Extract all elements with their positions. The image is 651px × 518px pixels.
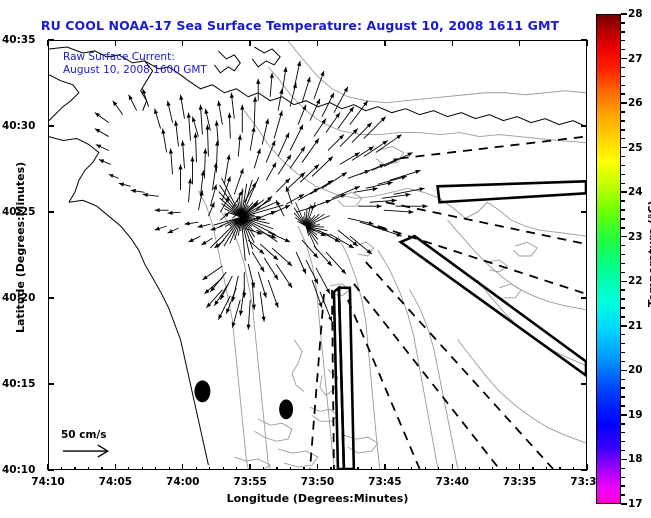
colorbar-minor-tick — [621, 22, 625, 23]
x-minor-tick — [209, 467, 210, 471]
colorbar-minor-tick — [621, 379, 625, 380]
figure-title: RU COOL NOAA-17 Sea Surface Temperature:… — [0, 18, 600, 33]
colorbar-minor-tick — [621, 165, 625, 166]
x-minor-tick — [559, 467, 560, 471]
colorbar-tick-label: 21 — [628, 320, 643, 332]
colorbar-tick-label: 17 — [628, 498, 643, 510]
x-minor-tick — [155, 467, 156, 471]
x-tick-mark — [317, 40, 318, 46]
x-minor-tick — [344, 467, 345, 471]
y-tick-mark — [581, 211, 587, 212]
colorbar-tick — [621, 370, 627, 371]
y-tick-label: 40:15 — [2, 378, 35, 390]
colorbar-tick — [621, 414, 627, 415]
colorbar-tick-label: 23 — [628, 231, 643, 243]
colorbar[interactable] — [596, 14, 621, 504]
x-tick-mark — [182, 464, 183, 470]
colorbar-minor-tick — [621, 405, 625, 406]
x-tick-mark — [182, 40, 183, 46]
x-minor-tick — [357, 467, 358, 471]
colorbar-tick — [621, 236, 627, 237]
colorbar-tick — [621, 281, 627, 282]
y-tick-mark — [581, 297, 587, 298]
y-tick-label: 40:35 — [2, 34, 35, 46]
x-minor-tick — [263, 467, 264, 471]
x-tick-mark — [384, 464, 385, 470]
x-tick-mark — [519, 40, 520, 46]
colorbar-tick-label: 22 — [628, 275, 643, 287]
x-tick-mark — [249, 464, 250, 470]
x-tick-mark — [384, 40, 385, 46]
colorbar-minor-tick — [621, 272, 625, 273]
x-minor-tick — [61, 467, 62, 471]
colorbar-minor-tick — [621, 76, 625, 77]
x-minor-tick — [276, 467, 277, 471]
colorbar-tick-label: 18 — [628, 453, 643, 465]
y-tick-label: 40:10 — [2, 464, 35, 476]
colorbar-minor-tick — [621, 93, 625, 94]
x-minor-tick — [371, 467, 372, 471]
colorbar-tick-label: 28 — [628, 8, 643, 20]
colorbar-tick — [621, 325, 627, 326]
x-minor-tick — [330, 467, 331, 471]
y-tick-mark — [48, 383, 54, 384]
colorbar-minor-tick — [621, 85, 625, 86]
colorbar-minor-tick — [621, 227, 625, 228]
colorbar-minor-tick — [621, 352, 625, 353]
colorbar-minor-tick — [621, 387, 625, 388]
y-tick-mark — [581, 39, 587, 40]
x-minor-tick — [573, 467, 574, 471]
x-tick-mark — [317, 464, 318, 470]
colorbar-minor-tick — [621, 129, 625, 130]
colorbar-tick-label: 26 — [628, 97, 643, 109]
colorbar-minor-tick — [621, 40, 625, 41]
y-tick-mark — [48, 125, 54, 126]
colorbar-minor-tick — [621, 396, 625, 397]
colorbar-minor-tick — [621, 49, 625, 50]
x-tick-mark — [115, 464, 116, 470]
x-tick-mark — [249, 40, 250, 46]
x-tick-label: 74:00 — [166, 476, 199, 488]
colorbar-minor-tick — [621, 494, 625, 495]
x-minor-tick — [74, 467, 75, 471]
x-minor-tick — [506, 467, 507, 471]
x-tick-mark — [519, 464, 520, 470]
colorbar-minor-tick — [621, 307, 625, 308]
x-tick-label: 74:10 — [31, 476, 64, 488]
colorbar-minor-tick — [621, 111, 625, 112]
colorbar-minor-tick — [621, 174, 625, 175]
x-minor-tick — [411, 467, 412, 471]
map-plot-area[interactable]: Raw Surface Current: August 10, 2008 160… — [48, 40, 587, 470]
sst-map-figure: RU COOL NOAA-17 Sea Surface Temperature:… — [0, 0, 651, 518]
colorbar-minor-tick — [621, 441, 625, 442]
x-minor-tick — [169, 467, 170, 471]
scale-bar-arrow-icon — [63, 445, 108, 457]
colorbar-minor-tick — [621, 31, 625, 32]
colorbar-minor-tick — [621, 361, 625, 362]
colorbar-tick-label: 25 — [628, 142, 643, 154]
map-canvas — [49, 41, 586, 469]
colorbar-minor-tick — [621, 485, 625, 486]
colorbar-minor-tick — [621, 432, 625, 433]
y-tick-mark — [48, 469, 54, 470]
x-tick-mark — [47, 40, 48, 46]
colorbar-tick — [621, 58, 627, 59]
x-minor-tick — [223, 467, 224, 471]
colorbar-minor-tick — [621, 298, 625, 299]
scale-bar-label: 50 cm/s — [61, 429, 107, 441]
y-tick-mark — [48, 39, 54, 40]
colorbar-tick — [621, 147, 627, 148]
x-axis-label: Longitude (Degrees:Minutes) — [48, 492, 587, 505]
x-tick-label: 73:45 — [368, 476, 401, 488]
colorbar-minor-tick — [621, 343, 625, 344]
colorbar-minor-tick — [621, 263, 625, 264]
x-tick-mark — [115, 40, 116, 46]
x-minor-tick — [290, 467, 291, 471]
x-tick-label: 73:50 — [301, 476, 334, 488]
x-tick-label: 73:55 — [233, 476, 266, 488]
colorbar-minor-tick — [621, 156, 625, 157]
colorbar-tick — [621, 13, 627, 14]
x-tick-label: 74:05 — [99, 476, 132, 488]
colorbar-minor-tick — [621, 254, 625, 255]
x-minor-tick — [465, 467, 466, 471]
x-minor-tick — [236, 467, 237, 471]
y-tick-mark — [48, 211, 54, 212]
colorbar-minor-tick — [621, 245, 625, 246]
colorbar-minor-tick — [621, 289, 625, 290]
y-tick-mark — [581, 125, 587, 126]
colorbar-minor-tick — [621, 200, 625, 201]
colorbar-tick — [621, 503, 627, 504]
x-minor-tick — [492, 467, 493, 471]
x-tick-mark — [452, 464, 453, 470]
colorbar-minor-tick — [621, 450, 625, 451]
y-tick-mark — [581, 383, 587, 384]
x-minor-tick — [425, 467, 426, 471]
colorbar-minor-tick — [621, 316, 625, 317]
colorbar-minor-tick — [621, 468, 625, 469]
colorbar-minor-tick — [621, 423, 625, 424]
colorbar-minor-tick — [621, 183, 625, 184]
x-minor-tick — [128, 467, 129, 471]
colorbar-title: Temperature (°C) — [646, 200, 651, 307]
x-minor-tick — [196, 467, 197, 471]
colorbar-minor-tick — [621, 67, 625, 68]
colorbar-tick-label: 20 — [628, 364, 643, 376]
colorbar-minor-tick — [621, 334, 625, 335]
x-tick-mark — [586, 40, 587, 46]
colorbar-tick-label: 27 — [628, 53, 643, 65]
y-axis-label: Latitude (Degrees:Minutes) — [14, 162, 27, 333]
x-minor-tick — [532, 467, 533, 471]
x-tick-label: 73:40 — [436, 476, 469, 488]
colorbar-tick — [621, 191, 627, 192]
colorbar-minor-tick — [621, 218, 625, 219]
x-minor-tick — [546, 467, 547, 471]
colorbar-minor-tick — [621, 477, 625, 478]
x-minor-tick — [479, 467, 480, 471]
x-minor-tick — [438, 467, 439, 471]
x-tick-mark — [452, 40, 453, 46]
colorbar-minor-tick — [621, 209, 625, 210]
colorbar-minor-tick — [621, 120, 625, 121]
x-minor-tick — [398, 467, 399, 471]
x-minor-tick — [101, 467, 102, 471]
colorbar-minor-tick — [621, 138, 625, 139]
station-markers — [194, 380, 293, 419]
coastline — [49, 47, 586, 465]
x-minor-tick — [88, 467, 89, 471]
colorbar-tick — [621, 102, 627, 103]
y-tick-mark — [48, 297, 54, 298]
x-minor-tick — [142, 467, 143, 471]
y-tick-mark — [581, 469, 587, 470]
y-tick-label: 40:30 — [2, 120, 35, 132]
colorbar-tick — [621, 459, 627, 460]
x-minor-tick — [303, 467, 304, 471]
colorbar-tick-label: 24 — [628, 186, 643, 198]
x-tick-label: 73:35 — [503, 476, 536, 488]
colorbar-tick-label: 19 — [628, 409, 643, 421]
